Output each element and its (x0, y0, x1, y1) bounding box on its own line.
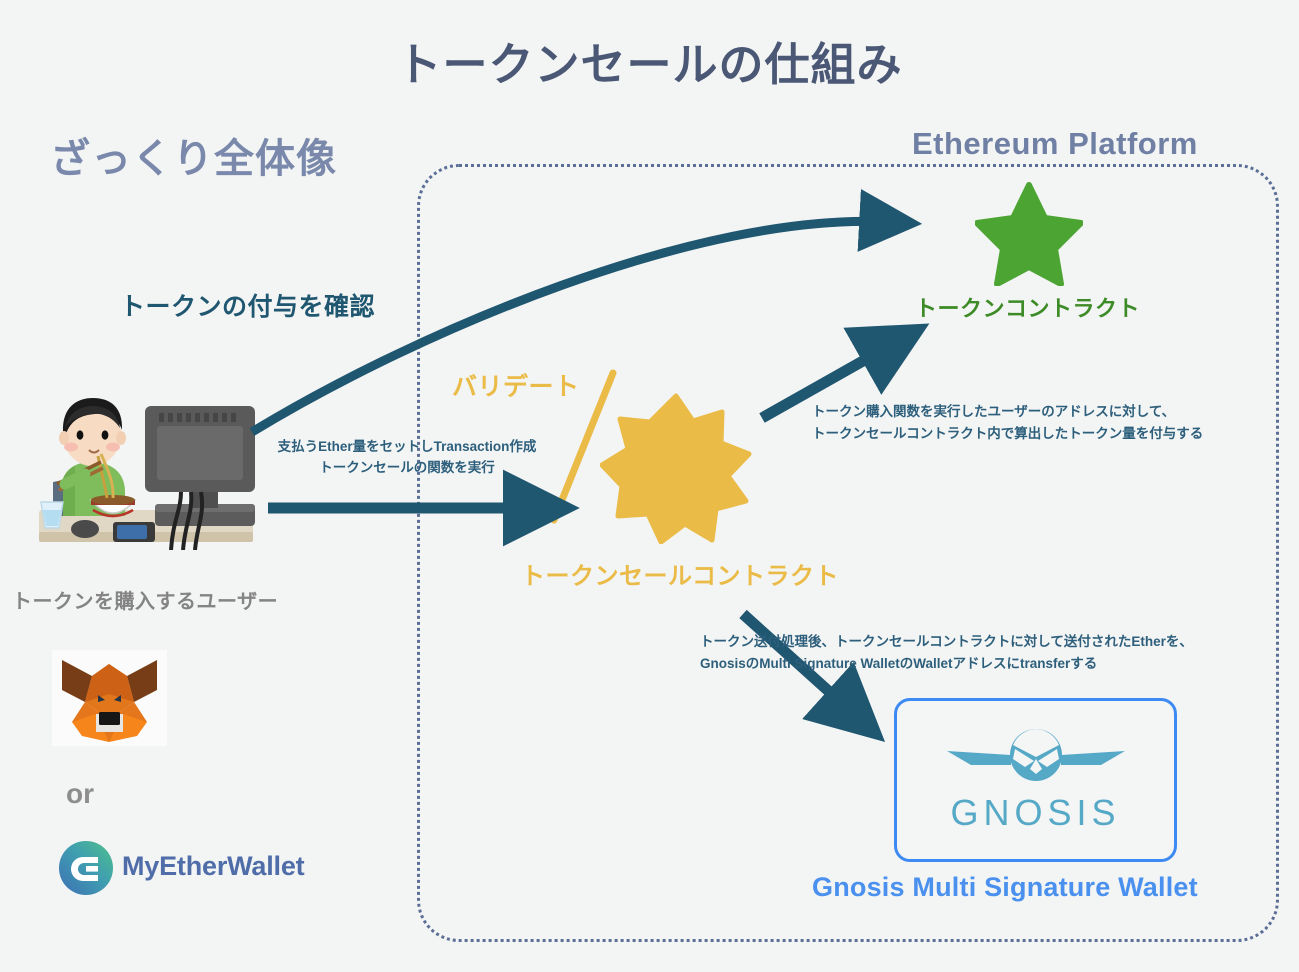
gnosis-multisig-caption: Gnosis Multi Signature Wallet (812, 872, 1198, 903)
grant-tokens-note-line1: トークン購入関数を実行したユーザーのアドレスに対して、 (812, 401, 1267, 423)
confirm-grant-label: トークンの付与を確認 (120, 287, 375, 323)
transaction-note: 支払うEther量をセットしTransaction作成 トークンセールの関数を実… (262, 437, 552, 479)
transaction-note-line2: トークンセールの関数を実行 (262, 458, 552, 479)
transaction-note-line1: 支払うEther量をセットしTransaction作成 (262, 437, 552, 458)
diagram-canvas: トークンセールの仕組み ざっくり全体像 Ethereum Platform (0, 0, 1299, 972)
transfer-ether-note-line1: トークン送付処理後、トークンセールコントラクトに対して送付されたEtherを、 (700, 631, 1200, 653)
gnosis-wallet-box: GNOSIS (894, 698, 1177, 862)
grant-tokens-note: トークン購入関数を実行したユーザーのアドレスに対して、 トークンセールコントラク… (812, 401, 1267, 445)
grant-tokens-note-line2: トークンセールコントラクト内で算出したトークン量を付与する (812, 423, 1267, 445)
gnosis-owl-icon (941, 727, 1131, 790)
transfer-ether-note-line2: GnosisのMulti Signature WalletのWalletアドレス… (700, 653, 1200, 675)
gnosis-wordmark: GNOSIS (950, 792, 1120, 834)
transfer-ether-note: トークン送付処理後、トークンセールコントラクトに対して送付されたEtherを、 … (700, 631, 1200, 675)
